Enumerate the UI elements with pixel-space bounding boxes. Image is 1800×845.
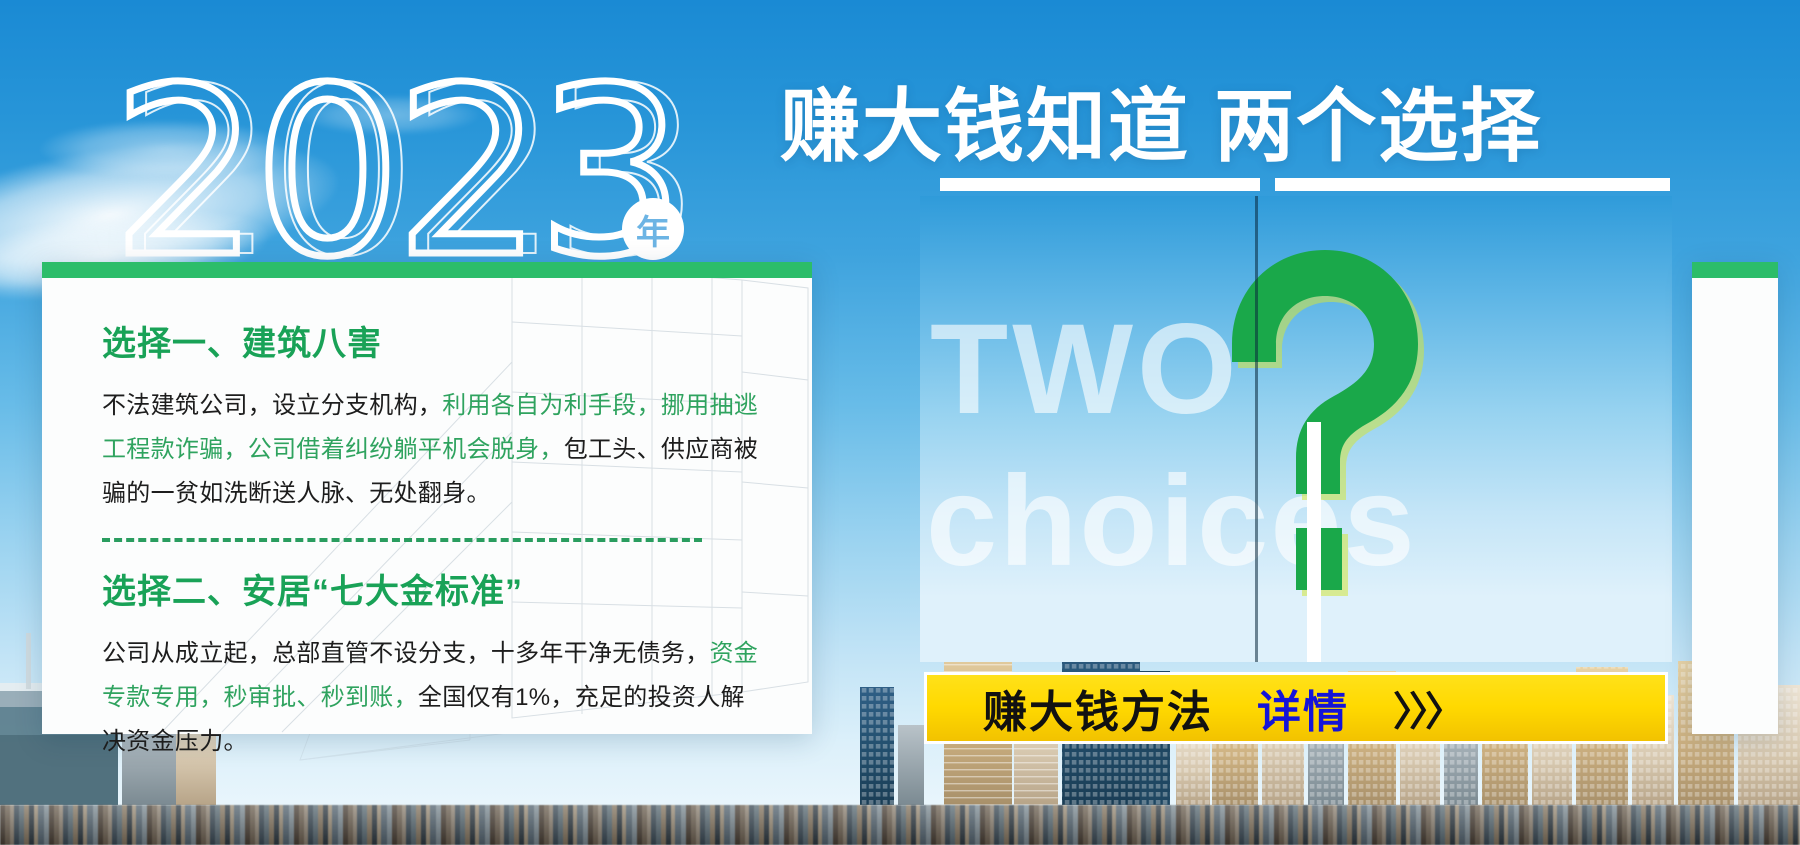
page-title: 赚大钱知道 两个选择 (780, 78, 1760, 176)
choice-2-run-0: 公司从成立起，总部直管不设分支，十多年干净无债务， (102, 640, 710, 667)
choice-section-1: 选择一、建筑八害 不法建筑公司，设立分支机构，利用各自为利手段，挪用抽逃工程款诈… (102, 322, 766, 516)
card-accent-bar (42, 262, 812, 278)
watermark-two: TWO (930, 306, 1241, 434)
cta-banner[interactable]: 赚大钱方法 详情 〉〉〉 (924, 672, 1668, 744)
choice-1-body: 不法建筑公司，设立分支机构，利用各自为利手段，挪用抽逃工程款诈骗，公司借着纠纷躺… (102, 384, 766, 516)
right-visual-panel: TWO choices (920, 196, 1672, 662)
choice-2-body: 公司从成立起，总部直管不设分支，十多年干净无债务，资金专款专用，秒审批、秒到账，… (102, 632, 766, 764)
choice-section-2: 选择二、安居“七大金标准” 公司从成立起，总部直管不设分支，十多年干净无债务，资… (102, 570, 766, 764)
year-unit-badge: 年 (622, 198, 684, 260)
cta-link-label[interactable]: 详情 (1257, 676, 1349, 740)
chevron-right-triple-icon: 〉〉〉 (1393, 679, 1461, 737)
cta-main-label: 赚大钱方法 (983, 676, 1213, 740)
headline-underline-right (1275, 178, 1670, 191)
panel-vertical-frame-line (1255, 196, 1258, 662)
panel-white-divider-stripe (1307, 422, 1321, 662)
question-mark-icon (1220, 244, 1430, 624)
headline-underline-left (940, 178, 1260, 191)
side-card-accent-bar (1692, 262, 1778, 278)
choice-1-title: 选择一、建筑八害 (102, 322, 766, 366)
panel-photo: TWO choices (920, 196, 1672, 662)
section-divider (102, 538, 702, 542)
card-content: 选择一、建筑八害 不法建筑公司，设立分支机构，利用各自为利手段，挪用抽逃工程款诈… (42, 278, 812, 734)
choices-card: 选择一、建筑八害 不法建筑公司，设立分支机构，利用各自为利手段，挪用抽逃工程款诈… (42, 262, 812, 734)
year-echo-outline: 2023 (128, 58, 694, 288)
side-card-sliver (1692, 262, 1778, 734)
choice-2-title: 选择二、安居“七大金标准” (102, 570, 766, 614)
choice-1-run-0: 不法建筑公司，设立分支机构， (102, 392, 442, 419)
poster-canvas: 2023 2023 年 赚大钱知道 两个选择 TWO choices (0, 0, 1800, 845)
